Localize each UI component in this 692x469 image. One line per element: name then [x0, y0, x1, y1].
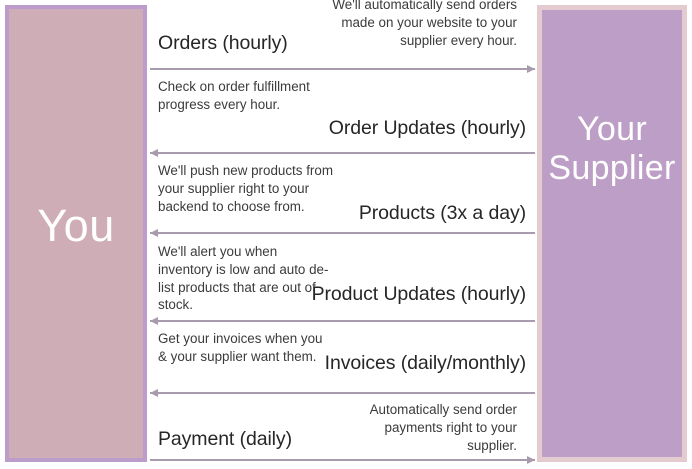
- flow-title-products: Products (3x a day): [359, 202, 526, 225]
- sequence-diagram: You Your Supplier We'll automatically se…: [0, 0, 692, 469]
- flow-arrow-order-updates: [150, 148, 535, 158]
- actor-label-supplier: Your Supplier: [548, 110, 675, 186]
- arrow-head-left-icon: [150, 229, 158, 237]
- actor-box-you: You: [5, 5, 147, 462]
- flow-title-product-updates: Product Updates (hourly): [312, 283, 526, 306]
- flow-title-payment: Payment (daily): [158, 428, 292, 451]
- actor-label-supplier-line2: Supplier: [548, 149, 675, 187]
- arrow-head-left-icon: [150, 317, 158, 325]
- flow-title-invoices: Invoices (daily/monthly): [325, 352, 526, 375]
- flow-arrow-payment: [150, 455, 535, 465]
- arrow-line: [150, 152, 535, 154]
- arrow-head-left-icon: [150, 149, 158, 157]
- arrow-line: [150, 232, 535, 234]
- flow-description-invoices: Get your invoices when you & your suppli…: [158, 330, 333, 366]
- flow-description-order-updates: Check on order fulfillment progress ever…: [158, 78, 333, 114]
- arrow-head-right-icon: [527, 65, 535, 73]
- arrow-line: [150, 320, 535, 322]
- flow-arrow-product-updates: [150, 316, 535, 326]
- flow-channel: We'll automatically send orders made on …: [150, 0, 535, 469]
- flow-title-order-updates: Order Updates (hourly): [329, 117, 526, 140]
- flow-arrow-products: [150, 228, 535, 238]
- flow-description-payment: Automatically send order payments right …: [332, 401, 517, 454]
- flow-description-products: We'll push new products from your suppli…: [158, 162, 333, 215]
- arrow-line: [150, 68, 535, 70]
- flow-description-orders: We'll automatically send orders made on …: [332, 0, 517, 49]
- arrow-line: [150, 392, 535, 394]
- arrow-line: [150, 459, 535, 461]
- arrow-head-left-icon: [150, 389, 158, 397]
- flow-description-product-updates: We'll alert you when inventory is low an…: [158, 243, 333, 314]
- flow-arrow-invoices: [150, 388, 535, 398]
- flow-title-orders: Orders (hourly): [158, 32, 288, 55]
- actor-label-supplier-line1: Your: [577, 110, 647, 148]
- actor-label-you: You: [37, 201, 114, 251]
- arrow-head-right-icon: [527, 456, 535, 464]
- actor-box-supplier: Your Supplier: [537, 5, 687, 462]
- flow-arrow-orders: [150, 64, 535, 74]
